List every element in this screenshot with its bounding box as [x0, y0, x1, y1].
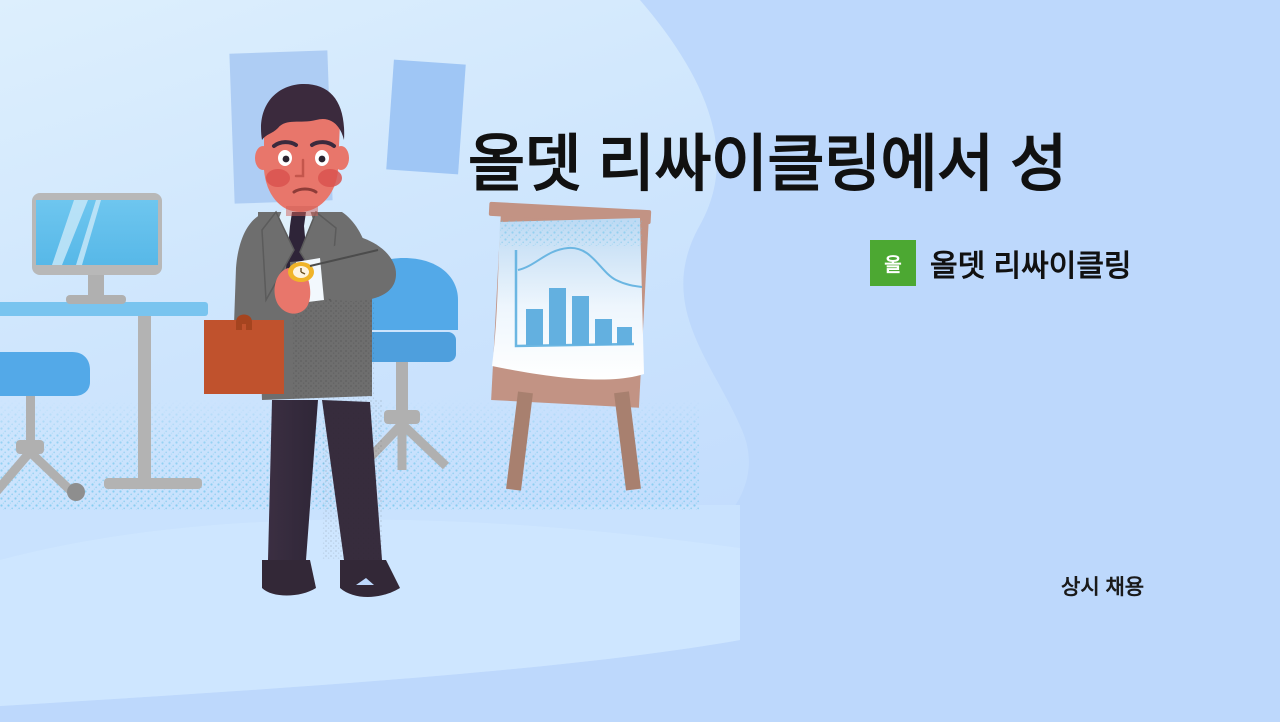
company-row[interactable]: 올 올뎃 리싸이클링: [870, 240, 1132, 286]
shoe-left: [262, 560, 316, 596]
company-logo-badge: 올: [870, 240, 916, 286]
company-name: 올뎃 리싸이클링: [930, 241, 1132, 285]
office-illustration: [0, 0, 1280, 722]
poster-canvas: 올뎃 리싸이클링에서 성 올 올뎃 리싸이클링 상시 채용: [0, 0, 1280, 722]
wall-poster-small: [386, 60, 465, 175]
page-title: 올뎃 리싸이클링에서 성: [468, 132, 1228, 199]
hiring-type-label: 상시 채용: [1061, 571, 1144, 601]
briefcase: [204, 320, 284, 394]
